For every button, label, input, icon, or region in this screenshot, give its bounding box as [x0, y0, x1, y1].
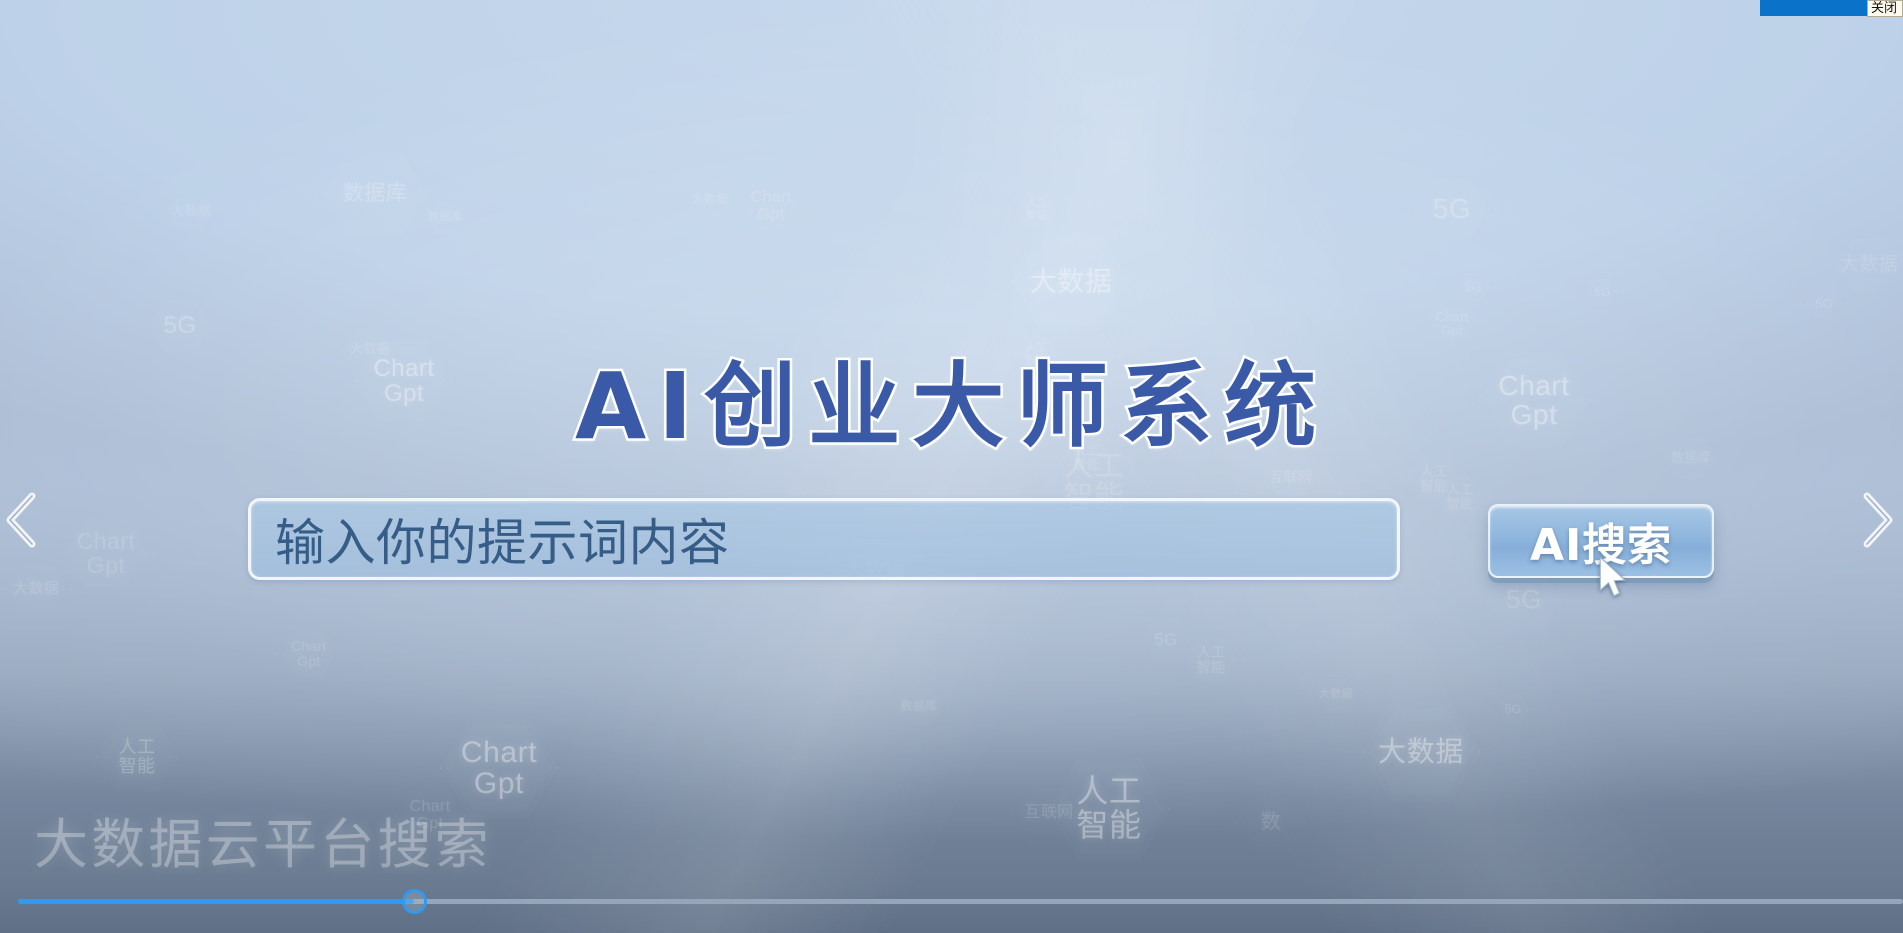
progress-slider[interactable]	[0, 889, 1903, 913]
ai-search-button[interactable]: AI搜索	[1488, 504, 1714, 578]
hexagon-icon	[1012, 230, 1130, 334]
background-hex-label: 互联网	[1264, 470, 1319, 485]
background-hex-tag: 人工 智能	[1010, 186, 1064, 234]
background-hex-label: 5G	[1499, 703, 1528, 716]
hexagon-inner-icon	[1497, 695, 1529, 723]
background-hex-tag: 人工 智能	[1048, 755, 1170, 863]
hexagon-inner-icon	[745, 185, 797, 229]
carousel-next-arrow[interactable]	[1851, 486, 1897, 554]
background-hex-label: 5G	[1500, 586, 1548, 613]
background-hex-tag: 5G	[1450, 266, 1496, 308]
background-hex-label: 大数据	[165, 204, 217, 218]
hexagon-inner-icon	[1019, 787, 1079, 839]
background-hex-label: 大数据	[1834, 255, 1903, 275]
hexagon-icon	[1135, 612, 1197, 668]
hexagon-inner-icon	[1807, 289, 1841, 319]
hexagon-icon	[738, 178, 804, 236]
background-hex-tag: 5G	[1408, 170, 1496, 248]
background-hex-tag: 5G	[1490, 688, 1536, 730]
hexagon-icon	[276, 624, 342, 684]
hexagon-icon	[1236, 790, 1306, 854]
background-hex-label: 人工 智能	[1020, 198, 1054, 221]
carousel-prev-arrow[interactable]	[2, 486, 48, 554]
hexagon-inner-icon	[323, 149, 427, 239]
hexagon-icon	[1490, 688, 1536, 730]
background-hex-label: 人工 智能	[1070, 775, 1147, 842]
hexagon-icon	[890, 680, 948, 732]
background-hex-tag: 5G	[1135, 612, 1197, 668]
background-hex-tag: 互联网	[1012, 780, 1086, 846]
background-hex-label: Chart Gpt	[745, 190, 798, 224]
hexagon-inner-icon	[1185, 637, 1237, 683]
hexagon-icon	[1830, 230, 1903, 300]
background-hex-label: 5G	[1458, 280, 1488, 294]
background-hex-label: 大数据	[686, 193, 735, 206]
hexagon-inner-icon	[1457, 273, 1489, 301]
hexagon-inner-icon	[1587, 279, 1617, 305]
hexagon-inner-icon	[897, 687, 941, 725]
background-hex-label: Chart Gpt	[285, 639, 333, 668]
hexagon-icon	[420, 195, 470, 241]
background-hex-tag: 人工 智能	[1178, 630, 1244, 690]
hexagon-icon	[1310, 672, 1362, 718]
watermark-text: 大数据云平台搜索	[34, 800, 492, 879]
background-light-streaks	[0, 0, 1903, 933]
hexagon-inner-icon	[283, 631, 335, 677]
hexagon-icon	[316, 142, 434, 246]
background-hex-tag: 大数据	[160, 183, 222, 239]
ai-search-button-label: AI搜索	[1530, 509, 1672, 573]
hexagon-inner-icon	[1055, 762, 1163, 856]
hexagon-icon	[1010, 186, 1064, 234]
background-hex-tag: 大数据	[1012, 230, 1130, 334]
hexagon-icon	[1048, 755, 1170, 863]
background-vignette	[0, 0, 1903, 933]
background-hex-tag: 5G	[1800, 282, 1848, 326]
hexagon-inner-icon	[1142, 619, 1190, 661]
hexagon-inner-icon	[1243, 797, 1299, 847]
background-hex-tag: 大数据	[683, 175, 737, 223]
background-hex-tag: Chart Gpt	[738, 178, 804, 236]
hexagon-inner-icon	[103, 727, 171, 787]
hexagon-inner-icon	[1317, 679, 1355, 711]
background-hex-tag: 数据库	[890, 680, 948, 732]
background-hex-label: 数据库	[422, 212, 468, 224]
prompt-input[interactable]: 输入你的提示词内容	[248, 498, 1400, 580]
background-hex-label: 大数据	[1313, 689, 1359, 701]
hexagon-inner-icon	[427, 202, 463, 234]
hexagon-icon	[1450, 266, 1496, 308]
app-stage: 数据库大数据5G大数据Chart GptChart GptChart GptCh…	[0, 0, 1903, 933]
hexagon-inner-icon	[690, 182, 730, 216]
background-hex-label: 5G	[1148, 631, 1183, 649]
progress-slider-fill	[18, 899, 414, 904]
background-hex-label: 大数据	[1024, 268, 1119, 296]
background-hex-tag: 5G	[1580, 272, 1624, 312]
background-hex-label: Chart Gpt	[455, 737, 543, 800]
background-hex-label: 人工 智能	[1191, 645, 1232, 674]
background-hex-tag: 数据库	[316, 142, 434, 246]
background-hex-label: 数据库	[895, 700, 944, 713]
hexagon-icon	[1012, 780, 1086, 846]
background-hex-label: 大数据	[1372, 737, 1470, 766]
background-hex-label: 5G	[1427, 194, 1477, 223]
background-hex-label: 人工 智能	[1414, 464, 1455, 493]
search-row: 输入你的提示词内容 AI搜索	[0, 498, 1903, 590]
background-hex-label: 互联网	[1019, 805, 1080, 822]
background-hexagon-layer: 数据库大数据5G大数据Chart GptChart GptChart GptCh…	[0, 0, 1903, 933]
hexagon-inner-icon	[167, 190, 215, 232]
page-title: AI创业大师系统	[0, 332, 1903, 465]
hexagon-icon	[1362, 700, 1480, 804]
hexagon-icon	[683, 175, 737, 223]
hexagon-inner-icon	[1369, 707, 1473, 797]
background-hex-label: 5G	[1588, 286, 1617, 299]
hexagon-icon	[1580, 272, 1624, 312]
background-hex-label: 5G	[1809, 297, 1839, 311]
hexagon-icon	[1178, 630, 1244, 690]
window-titlebar-blue-segment	[1760, 0, 1872, 16]
hexagon-icon	[96, 720, 178, 794]
background-hex-tag: 人工 智能	[96, 720, 178, 794]
background-hex-label: 数据库	[337, 183, 413, 205]
prompt-input-placeholder: 输入你的提示词内容	[251, 503, 730, 575]
progress-slider-knob[interactable]	[402, 889, 427, 914]
hexagon-inner-icon	[1019, 237, 1123, 327]
hexagon-icon	[160, 183, 222, 239]
hexagon-inner-icon	[1837, 237, 1901, 293]
background-hex-tag: 大数据	[1362, 700, 1480, 804]
background-hex-tag: 数据库	[420, 195, 470, 241]
background-hex-tag: Chart Gpt	[276, 624, 342, 684]
hexagon-icon	[1800, 282, 1848, 326]
hexagon-inner-icon	[1415, 177, 1489, 241]
background-hex-label: 人工 智能	[113, 738, 162, 776]
background-hex-tag: 大数据	[1830, 230, 1903, 300]
background-hex-tag: 数	[1236, 790, 1306, 854]
hexagon-inner-icon	[1017, 193, 1057, 227]
background-hex-tag: 大数据	[1310, 672, 1362, 718]
hexagon-icon	[1408, 170, 1496, 248]
background-hex-label: 数	[1255, 812, 1287, 833]
close-tooltip: 关闭	[1867, 0, 1903, 17]
